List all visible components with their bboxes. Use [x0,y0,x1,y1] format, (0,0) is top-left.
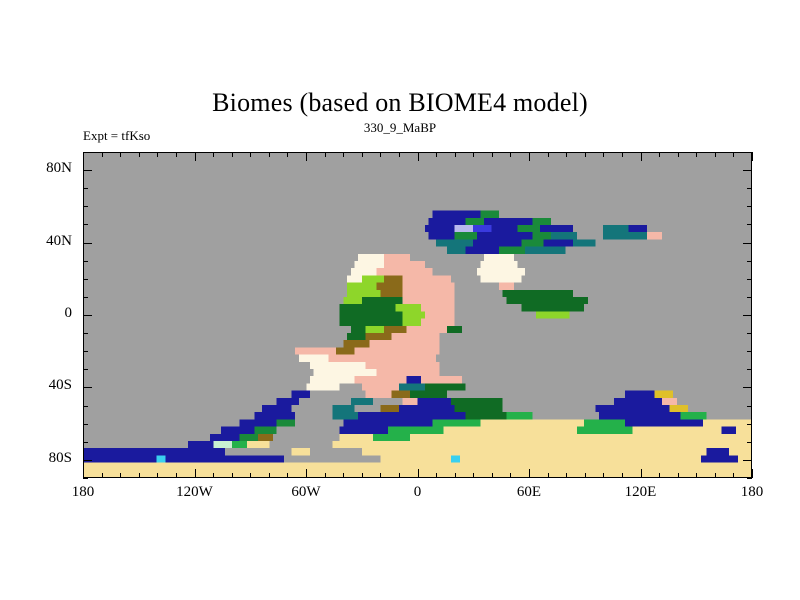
x-tick-bottom [325,473,326,478]
x-tick-top [380,152,381,157]
y-tick-label: 80S [0,450,72,467]
y-tick-right [747,369,752,370]
y-tick-right [747,279,752,280]
x-tick-top [250,152,251,157]
page-title: Biomes (based on BIOME4 model) [0,88,800,118]
y-tick-left [83,387,92,388]
x-tick-top [733,152,734,157]
y-tick-right [747,297,752,298]
x-tick-top [566,152,567,157]
x-tick-top [362,152,363,157]
y-tick-right [747,351,752,352]
x-tick-top [306,152,307,161]
x-tick-bottom [232,473,233,478]
x-tick-bottom [510,473,511,478]
x-tick-bottom [548,473,549,478]
x-tick-bottom [641,469,642,478]
x-tick-bottom [380,473,381,478]
x-tick-bottom [195,469,196,478]
y-tick-label: 80N [0,160,72,177]
x-tick-bottom [696,473,697,478]
x-tick-bottom [529,469,530,478]
x-tick-top [622,152,623,157]
y-tick-right [747,261,752,262]
x-tick-label: 120E [606,484,676,501]
y-tick-left [83,369,88,370]
y-tick-right [747,224,752,225]
y-tick-left [83,351,88,352]
x-tick-top [548,152,549,157]
y-tick-right [743,170,752,171]
x-tick-bottom [473,473,474,478]
x-tick-bottom [269,473,270,478]
x-tick-bottom [659,473,660,478]
x-tick-top [436,152,437,157]
x-tick-bottom [678,473,679,478]
y-tick-right [747,188,752,189]
biome-map-plot [83,152,752,478]
y-tick-left [83,243,92,244]
x-tick-bottom [343,473,344,478]
x-tick-top [529,152,530,161]
x-tick-label: 180 [717,484,787,501]
y-tick-left [83,224,88,225]
x-tick-bottom [287,473,288,478]
x-tick-bottom [418,469,419,478]
x-tick-top [678,152,679,157]
x-tick-label: 0 [383,484,453,501]
x-tick-bottom [120,473,121,478]
figure-root: Biomes (based on BIOME4 model) 330_9_MaB… [0,0,800,600]
y-tick-right [747,478,752,479]
x-tick-top [641,152,642,161]
x-tick-top [455,152,456,157]
x-tick-bottom [622,473,623,478]
x-tick-top [120,152,121,157]
x-tick-top [195,152,196,161]
x-tick-label: 120W [160,484,230,501]
x-tick-top [696,152,697,157]
x-tick-top [399,152,400,157]
x-tick-top [176,152,177,157]
x-tick-label: 180 [48,484,118,501]
y-tick-label: 40S [0,377,72,394]
x-tick-bottom [715,473,716,478]
x-tick-top [139,152,140,157]
x-tick-label: 60W [271,484,341,501]
x-tick-label: 60E [494,484,564,501]
x-tick-top [603,152,604,157]
y-tick-left [83,333,88,334]
y-tick-left [83,315,92,316]
y-tick-left [83,297,88,298]
biome-grid [84,153,751,477]
x-tick-top [287,152,288,157]
y-tick-left [83,442,88,443]
x-tick-bottom [399,473,400,478]
x-tick-top [492,152,493,157]
y-tick-left [83,152,88,153]
y-tick-left [83,424,88,425]
y-tick-right [743,243,752,244]
x-tick-bottom [176,473,177,478]
x-tick-top [659,152,660,157]
y-tick-left [83,170,92,171]
x-tick-top [473,152,474,157]
x-tick-bottom [250,473,251,478]
x-tick-top [83,152,84,161]
y-tick-left [83,460,92,461]
y-tick-right [747,406,752,407]
x-tick-top [213,152,214,157]
y-tick-left [83,206,88,207]
y-tick-left [83,279,88,280]
x-tick-bottom [102,473,103,478]
x-tick-bottom [213,473,214,478]
experiment-label: Expt = tfKso [83,128,150,144]
y-tick-right [747,442,752,443]
x-tick-bottom [362,473,363,478]
x-tick-top [343,152,344,157]
x-tick-top [102,152,103,157]
y-tick-left [83,261,88,262]
y-tick-right [743,315,752,316]
y-tick-right [747,333,752,334]
y-tick-right [747,424,752,425]
y-tick-right [747,206,752,207]
y-tick-left [83,478,88,479]
x-tick-bottom [492,473,493,478]
x-tick-bottom [733,473,734,478]
y-tick-right [743,460,752,461]
y-tick-label: 40N [0,233,72,250]
x-tick-top [325,152,326,157]
y-tick-left [83,406,88,407]
x-tick-bottom [752,469,753,478]
y-tick-right [743,387,752,388]
x-tick-top [269,152,270,157]
y-tick-left [83,188,88,189]
x-tick-bottom [139,473,140,478]
x-tick-bottom [157,473,158,478]
x-tick-bottom [566,473,567,478]
x-tick-top [418,152,419,161]
x-tick-bottom [83,469,84,478]
x-tick-bottom [455,473,456,478]
x-tick-bottom [603,473,604,478]
x-tick-top [585,152,586,157]
y-tick-label: 0 [0,305,72,322]
x-tick-top [752,152,753,161]
x-tick-top [232,152,233,157]
x-tick-bottom [306,469,307,478]
x-tick-top [157,152,158,157]
x-tick-bottom [436,473,437,478]
x-tick-top [715,152,716,157]
y-tick-right [747,152,752,153]
x-tick-bottom [585,473,586,478]
x-tick-top [510,152,511,157]
